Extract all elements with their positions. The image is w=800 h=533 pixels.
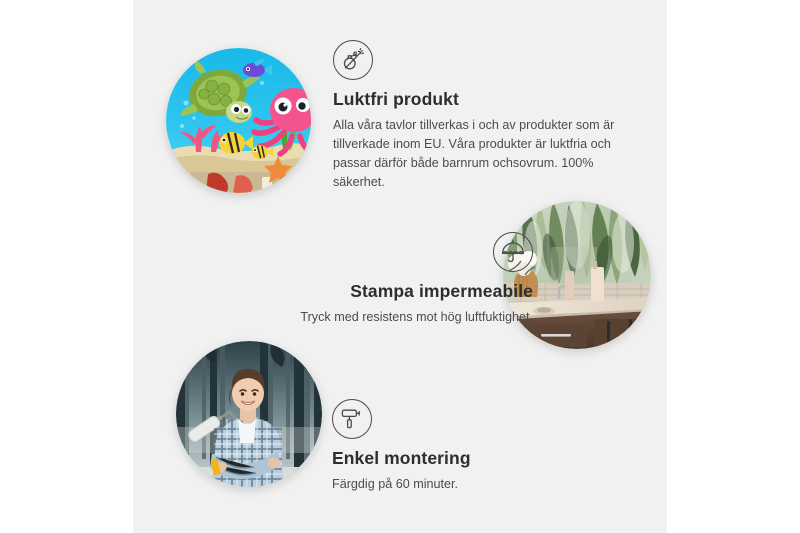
feature-block-luktfri: Luktfri produkt Alla våra tavlor tillver…: [333, 40, 633, 192]
feature-title: Stampa impermeabile: [193, 281, 533, 303]
feature-title: Luktfri produkt: [333, 89, 633, 111]
content-panel: Luktfri produkt Alla våra tavlor tillver…: [133, 0, 667, 533]
umbrella-icon: [493, 232, 533, 272]
underwater-cartoon-photo: [166, 48, 311, 193]
paint-roller-icon: [332, 399, 372, 439]
feature-block-montering: Enkel montering Färgdig på 60 minuter.: [332, 399, 632, 494]
screenshot-root: Luktfri produkt Alla våra tavlor tillver…: [0, 0, 800, 533]
no-odour-icon: [333, 40, 373, 80]
feature-description: Alla våra tavlor tillverkas i och av pro…: [333, 116, 633, 193]
feature-description: Färgdig på 60 minuter.: [332, 475, 632, 494]
feature-block-impermeabile: Stampa impermeabile Tryck med resistens …: [193, 232, 533, 327]
installer-forest-photo: [176, 341, 322, 487]
feature-description: Tryck med resistens mot hög luftfuktighe…: [193, 308, 533, 327]
feature-title: Enkel montering: [332, 448, 632, 470]
